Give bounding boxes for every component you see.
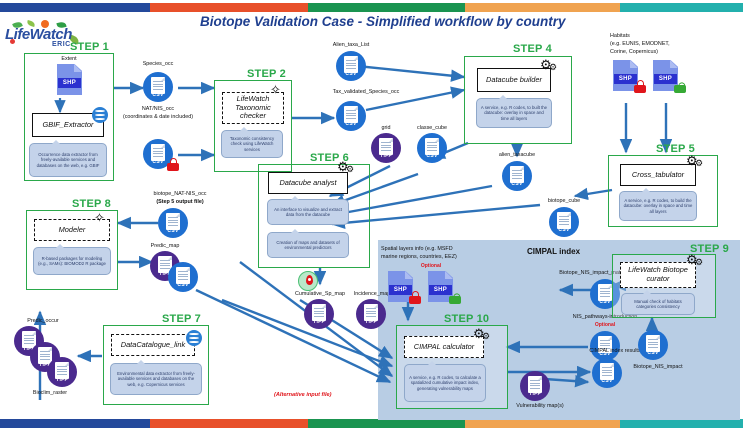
gears-icon: ⚙⚙ xyxy=(540,58,560,74)
step-8-label: STEP 8 xyxy=(72,198,111,210)
biotope-nat-nis-occ-sublabel: (Step 5 output file) xyxy=(125,199,235,206)
vulnerability-map-label: Vulnerability map(s) xyxy=(496,403,584,410)
step-2-note: Taxonomic consistency check using LifeWa… xyxy=(221,130,283,158)
lifewatch-biotope-curator-process[interactable]: LifeWatch Biotope curator xyxy=(620,262,696,288)
bioclim-raster-tiff[interactable]: TIFF xyxy=(47,357,77,387)
habitats-label: Habitats xyxy=(610,33,740,40)
csv-type-label: CSV xyxy=(336,121,366,127)
spatial-layers-optional-badge: Optional xyxy=(381,263,481,269)
biotope-nis-impact-label: Biotope_NIS_impact xyxy=(612,364,704,371)
map-pin-icon xyxy=(298,271,318,291)
habitats-sublabel-2: Corine, Copernicus) xyxy=(610,49,740,56)
step-1-note: Occurrence data extractor from freely-av… xyxy=(29,143,107,177)
logo-eric: ERIC xyxy=(52,41,71,48)
csv-type-label: CSV xyxy=(336,71,366,77)
brand-bar-segment-1 xyxy=(150,419,308,428)
datacatalogue-link-process[interactable]: DataCatalogue_link xyxy=(111,334,195,356)
step-10-note: A service, e.g. R codes, to calculate a … xyxy=(404,364,486,402)
csv-type-label: CSV xyxy=(158,228,188,234)
biotope-cube-label: biotope_cube xyxy=(520,198,608,205)
biotope-nat-nis-occ-csv[interactable]: CSV xyxy=(158,208,188,238)
bioclim-raster-label: Bioclim_raster xyxy=(10,390,90,397)
step-1-label: STEP 1 xyxy=(70,41,109,53)
tiff-type-label: TIFF xyxy=(520,391,550,397)
lock-open-green-icon xyxy=(449,291,461,304)
classe-cube-csv[interactable]: CSV xyxy=(417,133,447,163)
cimpal-panel-title: CIMPAL index xyxy=(527,247,580,256)
tiff-type-label: TIFF xyxy=(356,319,386,325)
classe-cube-label: classe_cube xyxy=(392,125,472,132)
extent-shp-icon: SHP xyxy=(57,64,82,95)
csv-type-label: CSV xyxy=(638,350,668,356)
magic-wand-icon: ✧ xyxy=(270,83,286,99)
lock-open-green-icon xyxy=(674,80,686,93)
lock-closed-red-icon xyxy=(167,158,179,171)
step-7-label: STEP 7 xyxy=(162,313,201,325)
step-10-label: STEP 10 xyxy=(444,313,489,325)
lock-closed-red-icon xyxy=(409,291,421,304)
gears-icon: ⚙⚙ xyxy=(686,253,706,269)
step-5-note: A service, e.g. R codes, to build the da… xyxy=(619,191,697,221)
brand-bar-top xyxy=(0,3,743,12)
shp-type-label: SHP xyxy=(58,78,81,88)
brand-bar-segment-3 xyxy=(465,419,620,428)
spatial-layers-label: Spatial layers info (e.g. MSFD xyxy=(381,246,521,253)
cumulative-sp-map-tiff[interactable]: TIFF xyxy=(304,299,334,329)
brand-bar-segment-0 xyxy=(0,419,150,428)
extent-label: Extent xyxy=(40,56,98,63)
nat-nis-occ-sublabel: (coordinates & date included) xyxy=(108,114,208,121)
csv-type-label: CSV xyxy=(168,282,198,288)
step-2-label: STEP 2 xyxy=(247,68,286,80)
step-9-note: Manual check of habitats categories cons… xyxy=(621,293,695,315)
csv-type-label: CSV xyxy=(592,378,622,384)
biotope-cube-csv[interactable]: CSV xyxy=(549,207,579,237)
brand-bar-segment-4 xyxy=(620,3,743,12)
brand-bar-bottom xyxy=(0,419,743,428)
alien-taxacube-csv[interactable]: CSV xyxy=(502,161,532,191)
alternative-input-annotation: (Alternative input file) xyxy=(274,392,332,398)
spatial-layers-sublabel: marine regions, countries, EEZ) xyxy=(381,254,521,261)
step-8-note: R-based packages for modeling (e.g., SAM… xyxy=(33,247,111,275)
brand-bar-segment-2 xyxy=(308,3,465,12)
biotope-nat-nis-occ-label: biotope_NAT-NIS_occ xyxy=(125,191,235,198)
brand-bar-segment-0 xyxy=(0,3,150,12)
step-4-note: A service, e.g. R codes, to built the da… xyxy=(476,98,552,128)
biotope-nis-impact-csv[interactable]: CSV xyxy=(638,330,668,360)
tax-validated-csv[interactable]: CSV xyxy=(336,101,366,131)
step-4-label: STEP 4 xyxy=(513,43,552,55)
tiff-type-label: TIFF xyxy=(371,153,401,159)
alien-taxacube-label: alien_taxacube xyxy=(473,152,561,159)
csv-type-label: CSV xyxy=(549,227,579,233)
brand-bar-segment-4 xyxy=(620,419,743,428)
tiff-type-label: TIFF xyxy=(304,319,334,325)
predic-map-csv[interactable]: CSV xyxy=(168,262,198,292)
step-6-note-2: Creation of maps and datasets of environ… xyxy=(267,232,349,258)
species-occ-label: Species_occ xyxy=(120,61,196,68)
brand-bar-segment-2 xyxy=(308,419,465,428)
alien-taxa-list-csv[interactable]: CSV xyxy=(336,51,366,81)
nis-pathways-optional-badge: Optional xyxy=(534,322,676,328)
species-occ-csv[interactable]: CSV xyxy=(143,72,173,102)
gears-icon: ⚙⚙ xyxy=(686,154,706,170)
page-title: Biotope Validation Case - Simplified wor… xyxy=(200,14,566,29)
cimpal-results-csv[interactable]: CSV xyxy=(592,358,622,388)
csv-type-label: CSV xyxy=(417,153,447,159)
alien-taxa-list-label: Alien_taxa_List xyxy=(306,42,396,49)
tiff-type-label: TIFF xyxy=(47,377,77,383)
lock-closed-red-icon xyxy=(634,80,646,93)
predic-occur-label: Predic_occur xyxy=(8,318,78,325)
vulnerability-map-tiff[interactable]: TIFF xyxy=(520,371,550,401)
cross-tabulator-process[interactable]: Cross_tabulator xyxy=(620,164,696,186)
nat-nis-occ-label: NAT/NIS_occ xyxy=(108,106,208,113)
gears-icon: ⚙⚙ xyxy=(473,327,493,343)
csv-type-label: CSV xyxy=(143,92,173,98)
step-6-note-1: An interface to visualize and extract da… xyxy=(267,199,349,225)
workflow-diagram: Biotope Validation Case - Simplified wor… xyxy=(0,0,743,434)
step-7-note: Environmental data extractor from freely… xyxy=(110,363,202,395)
gears-icon: ⚙⚙ xyxy=(337,160,357,176)
datacube-analyst-process[interactable]: Datacube analyst xyxy=(268,172,348,194)
predic-map-label: Predic_map xyxy=(132,243,198,250)
incidence-map-tiff[interactable]: TIFF xyxy=(356,299,386,329)
magic-wand-icon: ✧ xyxy=(94,211,110,227)
habitats-sublabel-1: (e.g. EUNIS, EMODNET, xyxy=(610,41,740,48)
tax-validated-label: Tax_validated_Species_occ xyxy=(296,89,436,96)
database-icon xyxy=(92,107,108,123)
grid-tiff[interactable]: TIFF xyxy=(371,133,401,163)
nis-pathways-csv[interactable]: CSV xyxy=(590,331,620,361)
cimpal-calculator-process[interactable]: CIMPAL calculator xyxy=(404,336,484,358)
brand-bar-segment-1 xyxy=(150,3,308,12)
csv-type-label: CSV xyxy=(502,181,532,187)
database-icon xyxy=(186,330,202,346)
brand-bar-segment-3 xyxy=(465,3,620,12)
